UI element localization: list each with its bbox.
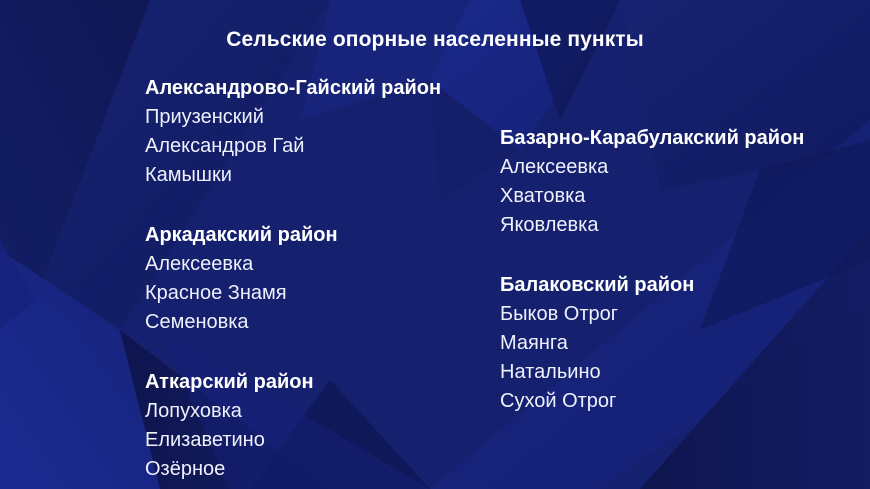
district-group: Базарно-Карабулакский район Алексеевка Х…	[500, 124, 804, 240]
district-heading: Балаковский район	[500, 271, 804, 300]
settlement-item: Хватовка	[500, 182, 804, 211]
right-column: Базарно-Карабулакский район Алексеевка Х…	[500, 124, 804, 416]
slide-content: Сельские опорные населенные пункты Алекс…	[0, 0, 870, 489]
district-heading: Базарно-Карабулакский район	[500, 124, 804, 153]
left-column: Александрово-Гайский район Приузенский А…	[145, 74, 441, 484]
settlement-item: Натальино	[500, 358, 804, 387]
settlement-item: Александров Гай	[145, 132, 441, 161]
district-heading: Аткарский район	[145, 368, 441, 397]
district-group: Аркадакский район Алексеевка Красное Зна…	[145, 221, 441, 337]
slide-root: Сельские опорные населенные пункты Алекс…	[0, 0, 870, 489]
district-heading: Аркадакский район	[145, 221, 441, 250]
district-heading: Александрово-Гайский район	[145, 74, 441, 103]
settlement-item: Приузенский	[145, 103, 441, 132]
settlement-item: Елизаветино	[145, 426, 441, 455]
settlement-item: Озёрное	[145, 455, 441, 484]
settlement-item: Сухой Отрог	[500, 387, 804, 416]
district-group: Аткарский район Лопуховка Елизаветино Оз…	[145, 368, 441, 484]
settlement-item: Красное Знамя	[145, 279, 441, 308]
settlement-item: Семеновка	[145, 308, 441, 337]
settlement-item: Алексеевка	[145, 250, 441, 279]
settlement-item: Лопуховка	[145, 397, 441, 426]
settlement-item: Маянга	[500, 329, 804, 358]
district-group: Александрово-Гайский район Приузенский А…	[145, 74, 441, 190]
page-title: Сельские опорные населенные пункты	[0, 28, 870, 52]
settlement-item: Алексеевка	[500, 153, 804, 182]
district-group: Балаковский район Быков Отрог Маянга Нат…	[500, 271, 804, 416]
settlement-item: Яковлевка	[500, 211, 804, 240]
settlement-item: Камышки	[145, 161, 441, 190]
settlement-item: Быков Отрог	[500, 300, 804, 329]
